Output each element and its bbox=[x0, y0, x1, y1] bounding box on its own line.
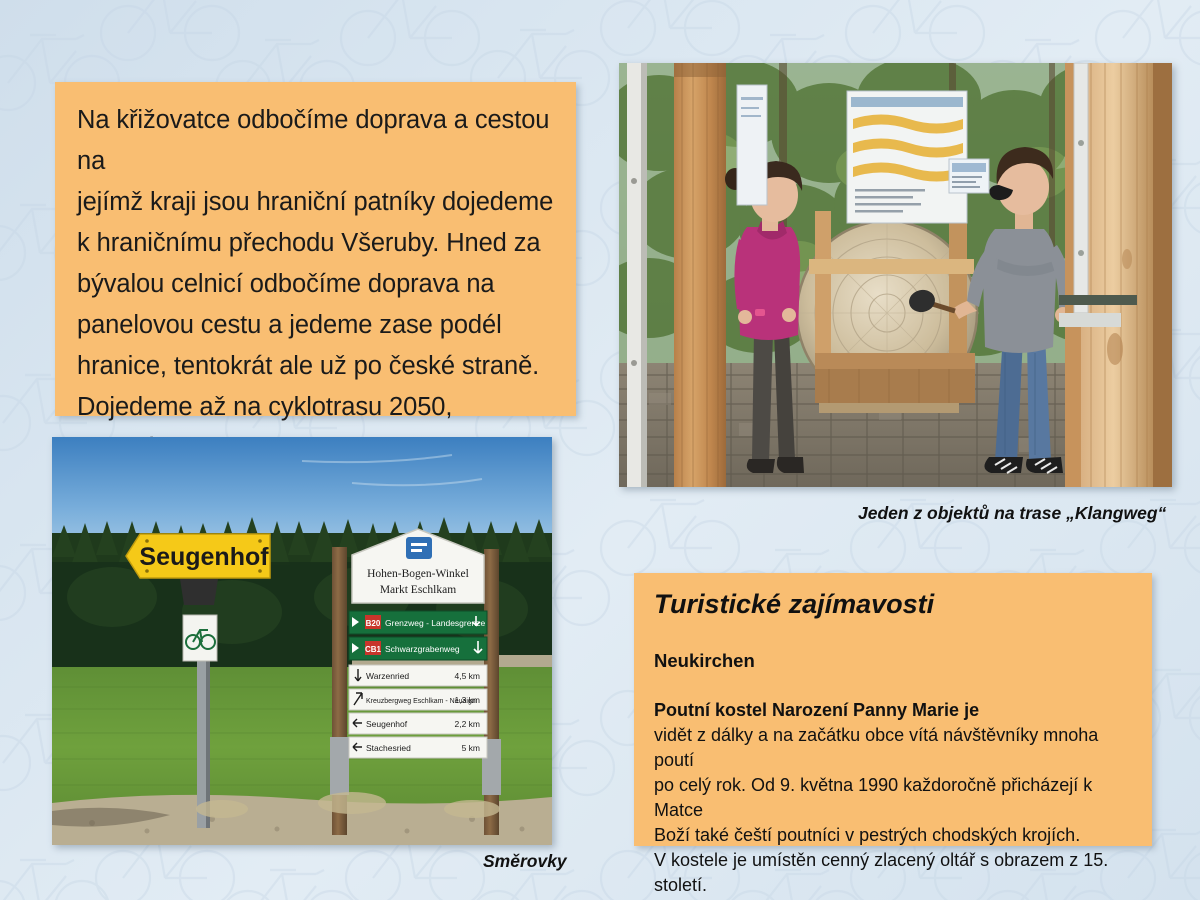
svg-text:Stachesried: Stachesried bbox=[366, 743, 411, 753]
tourist-box-line: vidět z dálky a na začátku obce vítá náv… bbox=[654, 723, 1130, 773]
slide-canvas: Na křižovatce odbočíme doprava a cestou … bbox=[0, 0, 1200, 900]
svg-text:4,5 km: 4,5 km bbox=[454, 671, 480, 681]
tourist-box-subtitle: Neukirchen bbox=[654, 650, 1130, 672]
svg-text:5 km: 5 km bbox=[462, 743, 480, 753]
photo-klangweg bbox=[619, 63, 1172, 487]
photo-smerovky: Seugenhof bbox=[52, 437, 552, 845]
route-line: panelovou cestu a jedeme zase podél bbox=[77, 305, 554, 346]
tourist-box-line: Boží také čeští poutníci v pestrých chod… bbox=[654, 823, 1130, 848]
route-line: bývalou celnicí odbočíme doprava na bbox=[77, 264, 554, 305]
info-panel-blue-left bbox=[737, 85, 767, 205]
caption-klangweg: Jeden z objektů na trase „Klangweg“ bbox=[858, 503, 1166, 524]
route-description-box: Na křižovatce odbočíme doprava a cestou … bbox=[55, 82, 576, 416]
svg-text:B20: B20 bbox=[366, 619, 381, 628]
info-panel-yellow bbox=[847, 91, 967, 223]
route-line: hranice, tentokrát ale už po české stran… bbox=[77, 346, 554, 387]
tourist-box-line: po celý rok. Od 9. května 1990 každoročn… bbox=[654, 773, 1130, 823]
svg-text:Hohen-Bogen-Winkel: Hohen-Bogen-Winkel bbox=[367, 568, 469, 580]
svg-text:Seugenhof: Seugenhof bbox=[366, 719, 408, 729]
tourist-box-line: V kostele je umístěn cenný zlacený oltář… bbox=[654, 848, 1130, 873]
svg-text:Grenzweg - Landesgrenze: Grenzweg - Landesgrenze bbox=[385, 618, 485, 628]
svg-text:2,2 km: 2,2 km bbox=[454, 719, 480, 729]
tourist-box-line: století. bbox=[654, 873, 1130, 898]
route-line: k hraničnímu přechodu Všeruby. Hned za bbox=[77, 223, 554, 264]
info-panel-blue-right bbox=[949, 159, 989, 193]
svg-text:Schwarzgrabenweg: Schwarzgrabenweg bbox=[385, 644, 460, 654]
route-line: jejímž kraji jsou hraniční patníky dojed… bbox=[77, 182, 554, 223]
tourist-attractions-box: Turistické zajímavosti Neukirchen Poutní… bbox=[634, 573, 1152, 846]
tourist-box-lead: Poutní kostel Narození Panny Marie je bbox=[654, 698, 1130, 723]
route-line: Na křižovatce odbočíme doprava a cestou … bbox=[77, 100, 554, 182]
caption-smerovky: Směrovky bbox=[483, 851, 567, 872]
svg-text:Markt Eschlkam: Markt Eschlkam bbox=[380, 584, 456, 596]
svg-text:Seugenhof: Seugenhof bbox=[139, 543, 269, 571]
tourist-box-title: Turistické zajímavosti bbox=[654, 589, 1130, 620]
svg-text:CB1: CB1 bbox=[365, 645, 382, 654]
svg-text:1,3 km: 1,3 km bbox=[454, 695, 480, 705]
svg-text:Warzenried: Warzenried bbox=[366, 671, 409, 681]
